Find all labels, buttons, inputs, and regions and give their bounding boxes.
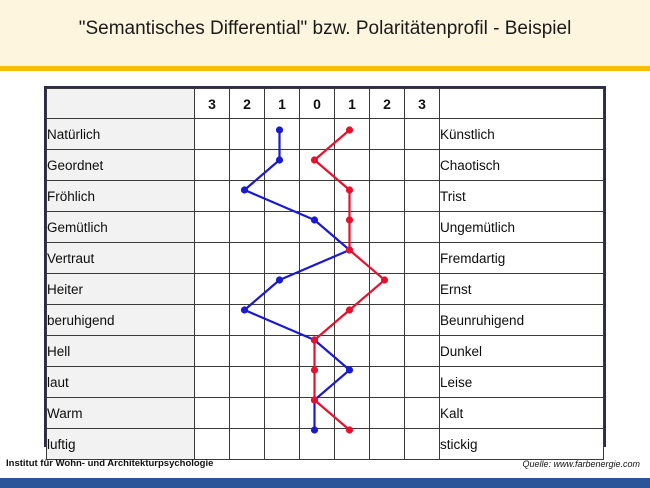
row-label-left: luftig xyxy=(47,429,195,460)
scale-cell[interactable] xyxy=(370,119,405,150)
table-row: HellDunkel xyxy=(47,336,604,367)
polarity-profile-table: 3 2 1 0 1 2 3 NatürlichKünstlichGeordnet… xyxy=(44,86,606,447)
scale-cell[interactable] xyxy=(195,429,230,460)
title-divider-rule xyxy=(0,66,650,71)
row-label-left: Natürlich xyxy=(47,119,195,150)
row-label-left: beruhigend xyxy=(47,305,195,336)
scale-cell[interactable] xyxy=(300,274,335,305)
scale-cell[interactable] xyxy=(335,150,370,181)
scale-cell[interactable] xyxy=(370,212,405,243)
table-row: beruhigendBeunruhigend xyxy=(47,305,604,336)
scale-cell[interactable] xyxy=(335,367,370,398)
table-row: NatürlichKünstlich xyxy=(47,119,604,150)
scale-cell[interactable] xyxy=(265,274,300,305)
scale-cell[interactable] xyxy=(300,243,335,274)
scale-cell[interactable] xyxy=(230,429,265,460)
row-label-right: Ungemütlich xyxy=(440,212,604,243)
scale-cell[interactable] xyxy=(265,119,300,150)
scale-cell[interactable] xyxy=(370,150,405,181)
scale-cell[interactable] xyxy=(265,181,300,212)
scale-cell[interactable] xyxy=(195,274,230,305)
scale-header-6: 3 xyxy=(405,89,440,119)
scale-cell[interactable] xyxy=(195,243,230,274)
scale-cell[interactable] xyxy=(335,212,370,243)
scale-cell[interactable] xyxy=(370,336,405,367)
scale-cell[interactable] xyxy=(300,429,335,460)
row-label-right: Ernst xyxy=(440,274,604,305)
scale-cell[interactable] xyxy=(370,305,405,336)
scale-cell[interactable] xyxy=(195,181,230,212)
scale-cell[interactable] xyxy=(405,305,440,336)
scale-cell[interactable] xyxy=(405,398,440,429)
scale-cell[interactable] xyxy=(335,243,370,274)
table-row: HeiterErnst xyxy=(47,274,604,305)
scale-cell[interactable] xyxy=(195,212,230,243)
scale-cell[interactable] xyxy=(405,243,440,274)
scale-cell[interactable] xyxy=(230,119,265,150)
row-label-left: laut xyxy=(47,367,195,398)
scale-cell[interactable] xyxy=(195,119,230,150)
scale-cell[interactable] xyxy=(265,429,300,460)
scale-cell[interactable] xyxy=(335,336,370,367)
scale-cell[interactable] xyxy=(265,398,300,429)
slide-root: "Semantisches Differential" bzw. Polarit… xyxy=(0,0,650,488)
scale-cell[interactable] xyxy=(370,367,405,398)
scale-cell[interactable] xyxy=(370,243,405,274)
scale-header-5: 2 xyxy=(370,89,405,119)
table-row: GemütlichUngemütlich xyxy=(47,212,604,243)
table-row: lautLeise xyxy=(47,367,604,398)
scale-cell[interactable] xyxy=(230,398,265,429)
row-label-left: Gemütlich xyxy=(47,212,195,243)
scale-cell[interactable] xyxy=(195,367,230,398)
scale-cell[interactable] xyxy=(370,181,405,212)
row-label-left: Vertraut xyxy=(47,243,195,274)
scale-cell[interactable] xyxy=(405,119,440,150)
page-title: "Semantisches Differential" bzw. Polarit… xyxy=(0,18,650,40)
row-label-right: Leise xyxy=(440,367,604,398)
scale-cell[interactable] xyxy=(195,336,230,367)
scale-cell[interactable] xyxy=(265,336,300,367)
scale-cell[interactable] xyxy=(405,367,440,398)
scale-cell[interactable] xyxy=(300,305,335,336)
scale-cell[interactable] xyxy=(300,212,335,243)
scale-cell[interactable] xyxy=(335,398,370,429)
row-label-right: Trist xyxy=(440,181,604,212)
row-label-left: Geordnet xyxy=(47,150,195,181)
scale-header-row: 3 2 1 0 1 2 3 xyxy=(47,89,604,119)
scale-cell[interactable] xyxy=(230,212,265,243)
row-label-right: Fremdartig xyxy=(440,243,604,274)
scale-cell[interactable] xyxy=(265,367,300,398)
table-row: WarmKalt xyxy=(47,398,604,429)
row-label-right: stickig xyxy=(440,429,604,460)
scale-cell[interactable] xyxy=(370,274,405,305)
scale-cell[interactable] xyxy=(230,274,265,305)
bottom-accent-bar xyxy=(0,478,650,488)
scale-cell[interactable] xyxy=(300,398,335,429)
scale-cell[interactable] xyxy=(335,181,370,212)
scale-cell[interactable] xyxy=(195,398,230,429)
scale-cell[interactable] xyxy=(265,212,300,243)
header-right-blank xyxy=(440,89,604,119)
scale-cell[interactable] xyxy=(265,305,300,336)
scale-cell[interactable] xyxy=(230,181,265,212)
header-left-blank xyxy=(47,89,195,119)
scale-cell[interactable] xyxy=(300,336,335,367)
row-label-right: Dunkel xyxy=(440,336,604,367)
scale-cell[interactable] xyxy=(300,181,335,212)
row-label-right: Künstlich xyxy=(440,119,604,150)
scale-cell[interactable] xyxy=(300,119,335,150)
profile-rows: NatürlichKünstlichGeordnetChaotischFröhl… xyxy=(47,119,604,460)
scale-cell[interactable] xyxy=(335,274,370,305)
table-row: FröhlichTrist xyxy=(47,181,604,212)
scale-cell[interactable] xyxy=(335,119,370,150)
scale-cell[interactable] xyxy=(195,150,230,181)
semantic-differential-grid: 3 2 1 0 1 2 3 NatürlichKünstlichGeordnet… xyxy=(46,88,604,460)
scale-header-3: 0 xyxy=(300,89,335,119)
row-label-left: Fröhlich xyxy=(47,181,195,212)
scale-cell[interactable] xyxy=(405,212,440,243)
scale-cell[interactable] xyxy=(230,243,265,274)
footer-source: Quelle: www.farbenergie.com xyxy=(522,459,640,469)
table-row: GeordnetChaotisch xyxy=(47,150,604,181)
scale-cell[interactable] xyxy=(230,336,265,367)
row-label-right: Chaotisch xyxy=(440,150,604,181)
scale-cell[interactable] xyxy=(335,305,370,336)
scale-cell[interactable] xyxy=(370,429,405,460)
scale-cell[interactable] xyxy=(300,367,335,398)
scale-header-4: 1 xyxy=(335,89,370,119)
scale-cell[interactable] xyxy=(265,150,300,181)
row-label-left: Warm xyxy=(47,398,195,429)
scale-header-2: 1 xyxy=(265,89,300,119)
scale-header-0: 3 xyxy=(195,89,230,119)
scale-cell[interactable] xyxy=(230,305,265,336)
scale-cell[interactable] xyxy=(300,150,335,181)
scale-cell[interactable] xyxy=(195,305,230,336)
footer-institute: Institut für Wohn- und Architekturpsycho… xyxy=(6,458,213,469)
row-label-right: Kalt xyxy=(440,398,604,429)
row-label-left: Heiter xyxy=(47,274,195,305)
scale-cell[interactable] xyxy=(265,243,300,274)
scale-cell[interactable] xyxy=(405,150,440,181)
row-label-right: Beunruhigend xyxy=(440,305,604,336)
table-row: luftigstickig xyxy=(47,429,604,460)
table-row: VertrautFremdartig xyxy=(47,243,604,274)
scale-cell[interactable] xyxy=(370,398,405,429)
scale-cell[interactable] xyxy=(230,150,265,181)
scale-header-1: 2 xyxy=(230,89,265,119)
scale-cell[interactable] xyxy=(230,367,265,398)
row-label-left: Hell xyxy=(47,336,195,367)
scale-cell[interactable] xyxy=(405,429,440,460)
scale-cell[interactable] xyxy=(405,336,440,367)
scale-cell[interactable] xyxy=(335,429,370,460)
scale-cell[interactable] xyxy=(405,181,440,212)
scale-cell[interactable] xyxy=(405,274,440,305)
